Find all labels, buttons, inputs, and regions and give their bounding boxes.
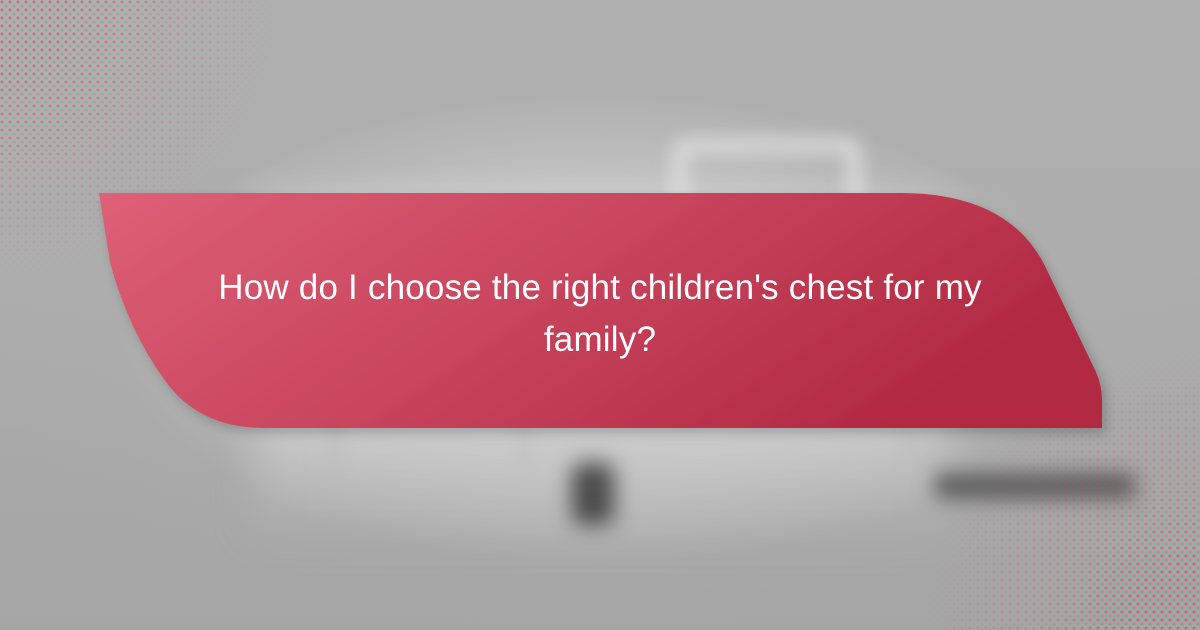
chest-latch-icon [572,463,614,525]
halftone-dots-bottom-right [880,330,1200,630]
chest-handle-icon [672,138,862,215]
halftone-dots-top-left [0,0,320,300]
card-title: How do I choose the right children's che… [160,262,1040,366]
share-card: How do I choose the right children's che… [0,0,1200,630]
